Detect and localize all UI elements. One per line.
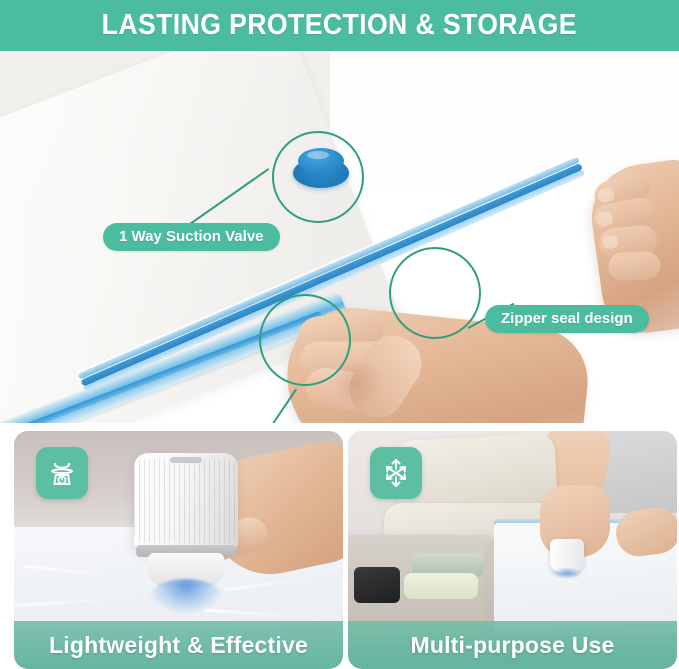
kitchen-scale-icon bbox=[46, 457, 78, 489]
pump-blue-glow bbox=[150, 579, 222, 613]
callout-zipper-seal-design[interactable]: Zipper seal design bbox=[485, 305, 649, 333]
zipper-grip-highlight-circle bbox=[259, 294, 351, 386]
caption-text-multi-purpose: Multi-purpose Use bbox=[410, 632, 614, 659]
panel-lightweight-effective[interactable]: Lightweight & Effective bbox=[14, 431, 343, 669]
vacuum-pump bbox=[134, 453, 238, 585]
expand-arrows-icon bbox=[379, 456, 413, 490]
callout-1-way-suction-valve[interactable]: 1 Way Suction Valve bbox=[103, 223, 280, 251]
caption-bar-left: Lightweight & Effective bbox=[14, 621, 343, 669]
fingernail bbox=[596, 186, 616, 204]
caption-text-lightweight: Lightweight & Effective bbox=[49, 632, 308, 659]
page-title: LASTING PROTECTION & STORAGE bbox=[102, 9, 577, 42]
pump-ribbed-texture bbox=[134, 459, 238, 543]
feature-panels: Lightweight & Effective bbox=[0, 431, 679, 669]
black-pouch bbox=[354, 567, 400, 603]
infographic-page: LASTING PROTECTION & STORAGE bbox=[0, 0, 679, 669]
toiletry-bottle bbox=[404, 573, 478, 599]
pump-top-slot bbox=[170, 457, 202, 463]
caption-bar-right: Multi-purpose Use bbox=[348, 621, 677, 669]
pump-blue-glow bbox=[552, 567, 582, 579]
fingernail bbox=[595, 211, 614, 228]
badge-multi-purpose bbox=[370, 447, 422, 499]
zipper-seal-highlight-circle bbox=[389, 247, 481, 339]
header-banner: LASTING PROTECTION & STORAGE bbox=[0, 0, 679, 51]
finger bbox=[608, 251, 661, 281]
badge-lightweight bbox=[36, 447, 88, 499]
hero-vacuum-bag-scene: 1 Way Suction Valve Zipper seal design F… bbox=[0, 51, 679, 423]
panel-multi-purpose-use[interactable]: Multi-purpose Use bbox=[348, 431, 677, 669]
fingernail bbox=[602, 235, 618, 249]
valve-highlight-circle bbox=[272, 131, 364, 223]
